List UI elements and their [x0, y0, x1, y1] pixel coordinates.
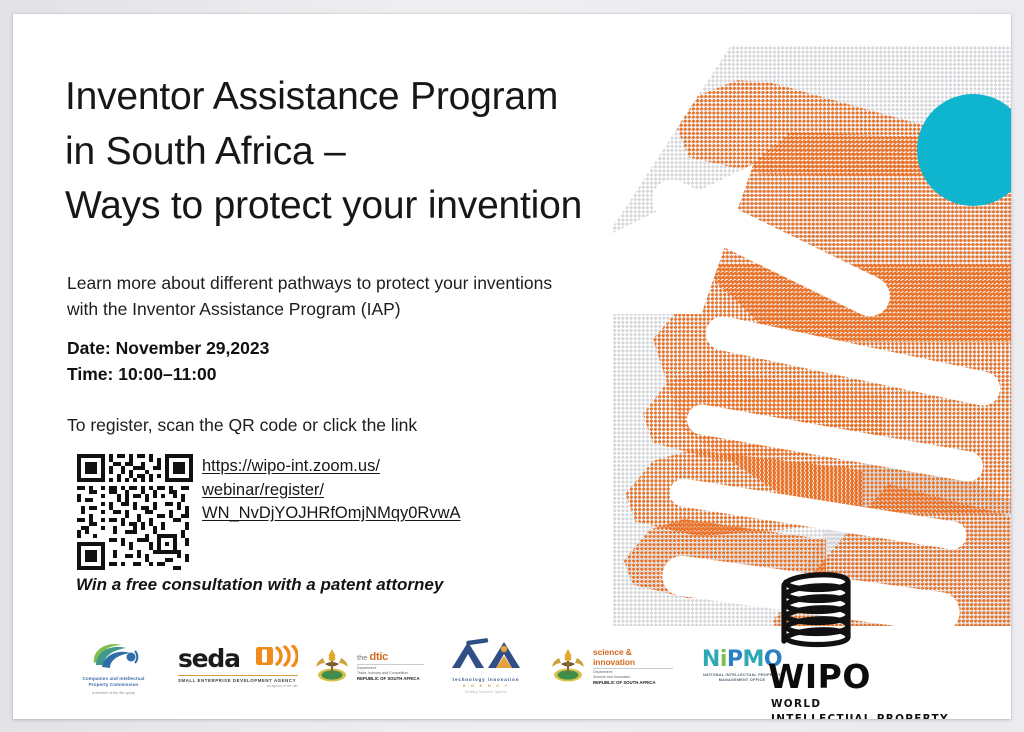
logo-wipo: WIPO WORLD INTELLECTUAL PROPERTY ORGANIZ… [768, 566, 983, 719]
dtic-country: REPUBLIC OF SOUTH AFRICA [357, 676, 424, 681]
logo-science-innovation: science & innovation Department: Science… [548, 644, 673, 689]
dsi-country: REPUBLIC OF SOUTH AFRICA [593, 680, 673, 685]
wipo-full-name: WORLD INTELLECTUAL PROPERTY ORGANIZATION [771, 697, 983, 719]
tia-mark-icon [448, 657, 524, 674]
logo-dtic: the dtic Department: Trade, Industry and… [312, 644, 424, 689]
tia-sub: A G E N C Y [438, 683, 534, 688]
tia-caption: technology innovation [438, 677, 534, 682]
nipmo-letter-n: N [702, 647, 720, 672]
nipmo-letter-i: i [720, 647, 727, 672]
cipc-name: Companies and Intellectual Property Comm… [61, 676, 166, 686]
registration-link[interactable]: https://wipo-int.zoom.us/ webinar/regist… [202, 455, 482, 526]
poster-page: Inventor Assistance Program in South Afr… [13, 14, 1011, 719]
dsi-department: Department: Science and Innovation [593, 670, 673, 679]
logo-tia: technology innovation A G E N C Y Enabli… [438, 638, 534, 694]
wipo-helix-icon [768, 639, 864, 656]
dtic-name: dtic [370, 651, 388, 663]
dtic-wordmark: the dtic [357, 651, 424, 663]
event-details: Date: November 29,2023 Time: 10:00–11:00 [67, 336, 547, 387]
logo-cipc: Companies and Intellectual Property Comm… [61, 637, 166, 694]
seda-tagline: SMALL ENTERPRISE DEVELOPMENT AGENCY [178, 678, 298, 683]
nipmo-letter-p: P [727, 647, 743, 672]
wipo-acronym: WIPO [768, 660, 983, 693]
poster-content: Inventor Assistance Program in South Afr… [13, 14, 1011, 719]
intro-paragraph: Learn more about different pathways to p… [67, 270, 627, 323]
seda-divider [178, 675, 298, 676]
south-africa-coat-of-arms-icon [312, 644, 352, 689]
nipmo-letter-m: M [742, 647, 763, 672]
seda-sub-note: an agency of the dtic [178, 684, 298, 688]
dsi-divider [593, 668, 673, 669]
partner-logo-strip: Companies and Intellectual Property Comm… [61, 626, 761, 706]
seda-blocks-icon [256, 645, 298, 672]
dsi-title: science & innovation [593, 647, 673, 667]
cipc-member-note: a member of the dtic group [61, 691, 166, 695]
tia-tagline: Enabling Tomorrow Together [438, 690, 534, 694]
dtic-the-word: the [357, 653, 367, 662]
register-prompt: To register, scan the QR code or click t… [67, 413, 587, 438]
qr-code-icon[interactable] [77, 454, 193, 570]
poster-root: Inventor Assistance Program in South Afr… [0, 0, 1024, 732]
dtic-divider [357, 664, 424, 665]
logo-seda: seda SMALL ENTERPRISE DEVEL [178, 644, 298, 688]
south-africa-coat-of-arms-icon [548, 644, 588, 689]
page-title: Inventor Assistance Program in South Afr… [65, 70, 665, 234]
dtic-department: Department: Trade, Industry and Competit… [357, 666, 424, 675]
seda-wordmark: seda [178, 644, 240, 673]
prize-note: Win a free consultation with a patent at… [76, 574, 596, 596]
cipc-swirl-icon [61, 637, 166, 673]
